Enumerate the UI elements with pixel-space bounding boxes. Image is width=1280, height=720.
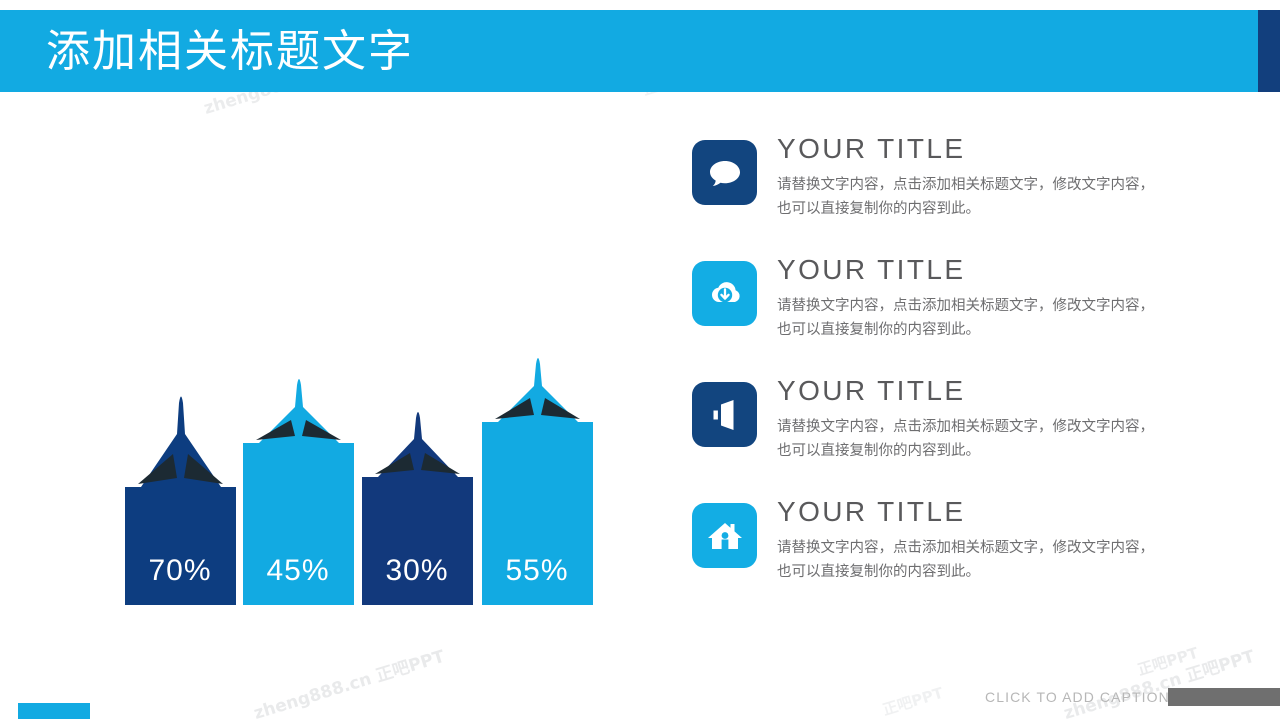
feature-body-line: 请替换文字内容，点击添加相关标题文字，修改文字内容， xyxy=(777,415,1181,439)
feature-title: YOUR TITLE xyxy=(777,495,1192,529)
chart-bar-1[interactable]: 70% xyxy=(125,397,236,606)
feature-text: YOUR TITLE 请替换文字内容，点击添加相关标题文字，修改文字内容， 也可… xyxy=(777,495,1192,584)
home-icon xyxy=(692,503,757,568)
feature-body: 请替换文字内容，点击添加相关标题文字，修改文字内容， 也可以直接复制你的内容到此… xyxy=(777,415,1181,463)
feature-text: YOUR TITLE 请替换文字内容，点击添加相关标题文字，修改文字内容， 也可… xyxy=(777,132,1192,221)
feature-item-1[interactable]: YOUR TITLE 请替换文字内容，点击添加相关标题文字，修改文字内容， 也可… xyxy=(692,132,1192,253)
feature-list: YOUR TITLE 请替换文字内容，点击添加相关标题文字，修改文字内容， 也可… xyxy=(692,132,1192,616)
feature-body-line: 也可以直接复制你的内容到此。 xyxy=(777,439,1181,463)
feature-body-line: 也可以直接复制你的内容到此。 xyxy=(777,560,1181,584)
feature-body-line: 请替换文字内容，点击添加相关标题文字，修改文字内容， xyxy=(777,173,1181,197)
speaker-icon xyxy=(692,382,757,447)
bar-chart[interactable]: 70% 45% 30% 55% xyxy=(60,240,660,640)
feature-title: YOUR TITLE xyxy=(777,132,1192,166)
slide-canvas: zheng888.cn 正吧PPT zheng888.cn 正吧PPT zhen… xyxy=(0,0,1280,720)
feature-text: YOUR TITLE 请替换文字内容，点击添加相关标题文字，修改文字内容， 也可… xyxy=(777,374,1192,463)
bar-value-label: 55% xyxy=(505,554,568,587)
chart-bar-4[interactable]: 55% xyxy=(482,358,593,605)
bar-chart-svg: 70% 45% 30% 55% xyxy=(60,240,660,640)
bar-value-label: 45% xyxy=(266,554,329,587)
watermark: 正吧PPT xyxy=(1135,642,1201,680)
bar-value-label: 30% xyxy=(385,554,448,587)
feature-title: YOUR TITLE xyxy=(777,374,1192,408)
feature-body-line: 也可以直接复制你的内容到此。 xyxy=(777,197,1181,221)
feature-body-line: 请替换文字内容，点击添加相关标题文字，修改文字内容， xyxy=(777,294,1181,318)
feature-body-line: 也可以直接复制你的内容到此。 xyxy=(777,318,1181,342)
watermark: 正吧PPT xyxy=(880,682,946,720)
footer-accent-bar xyxy=(18,703,90,719)
watermark: zheng888.cn 正吧PPT xyxy=(1060,642,1257,720)
watermark: zheng888.cn 正吧PPT xyxy=(250,642,447,720)
feature-body: 请替换文字内容，点击添加相关标题文字，修改文字内容， 也可以直接复制你的内容到此… xyxy=(777,294,1181,342)
chart-bar-3[interactable]: 30% xyxy=(362,412,473,605)
feature-body: 请替换文字内容，点击添加相关标题文字，修改文字内容， 也可以直接复制你的内容到此… xyxy=(777,536,1181,584)
feature-text: YOUR TITLE 请替换文字内容，点击添加相关标题文字，修改文字内容， 也可… xyxy=(777,253,1192,342)
title-banner-accent xyxy=(1258,10,1280,92)
feature-item-4[interactable]: YOUR TITLE 请替换文字内容，点击添加相关标题文字，修改文字内容， 也可… xyxy=(692,495,1192,616)
feature-body: 请替换文字内容，点击添加相关标题文字，修改文字内容， 也可以直接复制你的内容到此… xyxy=(777,173,1181,221)
chart-bar-2[interactable]: 45% xyxy=(243,379,354,605)
caption-overlay-block xyxy=(1168,688,1280,706)
feature-item-3[interactable]: YOUR TITLE 请替换文字内容，点击添加相关标题文字，修改文字内容， 也可… xyxy=(692,374,1192,495)
feature-title: YOUR TITLE xyxy=(777,253,1192,287)
bar-value-label: 70% xyxy=(148,554,211,587)
feature-body-line: 请替换文字内容，点击添加相关标题文字，修改文字内容， xyxy=(777,536,1181,560)
page-title[interactable]: 添加相关标题文字 xyxy=(46,26,414,78)
cloud-download-icon xyxy=(692,261,757,326)
feature-item-2[interactable]: YOUR TITLE 请替换文字内容，点击添加相关标题文字，修改文字内容， 也可… xyxy=(692,253,1192,374)
speech-bubble-icon xyxy=(692,140,757,205)
